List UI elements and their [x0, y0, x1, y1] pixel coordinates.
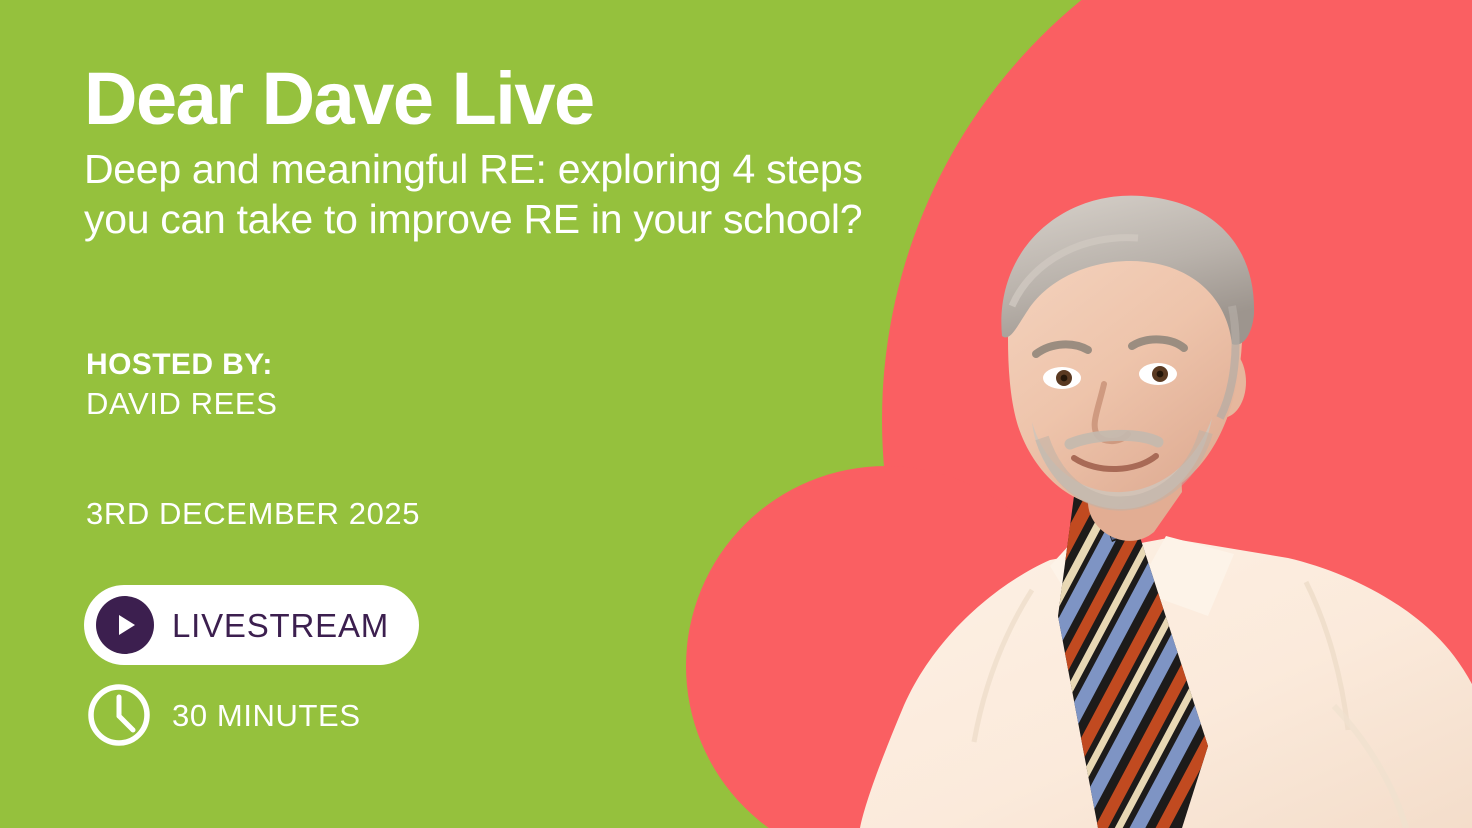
event-date: 3RD DECEMBER 2025 [86, 496, 420, 532]
clock-icon [86, 682, 152, 748]
livestream-badge[interactable]: LIVESTREAM [84, 585, 419, 665]
subtitle-line-1: Deep and meaningful RE: exploring 4 step… [84, 144, 1044, 194]
page-subtitle: Deep and meaningful RE: exploring 4 step… [84, 144, 1044, 244]
duration-label: 30 MINUTES [172, 700, 361, 731]
poster-content: Dear Dave Live Deep and meaningful RE: e… [84, 0, 1044, 828]
livestream-label: LIVESTREAM [172, 609, 389, 642]
duration-row: 30 MINUTES [86, 682, 361, 748]
hosted-by-label: HOSTED BY: [86, 348, 273, 382]
host-name: DAVID REES [86, 386, 277, 422]
subtitle-line-2: you can take to improve RE in your schoo… [84, 194, 1044, 244]
promo-poster: Dear Dave Live Deep and meaningful RE: e… [0, 0, 1472, 828]
page-title: Dear Dave Live [84, 62, 594, 136]
play-icon [96, 596, 154, 654]
